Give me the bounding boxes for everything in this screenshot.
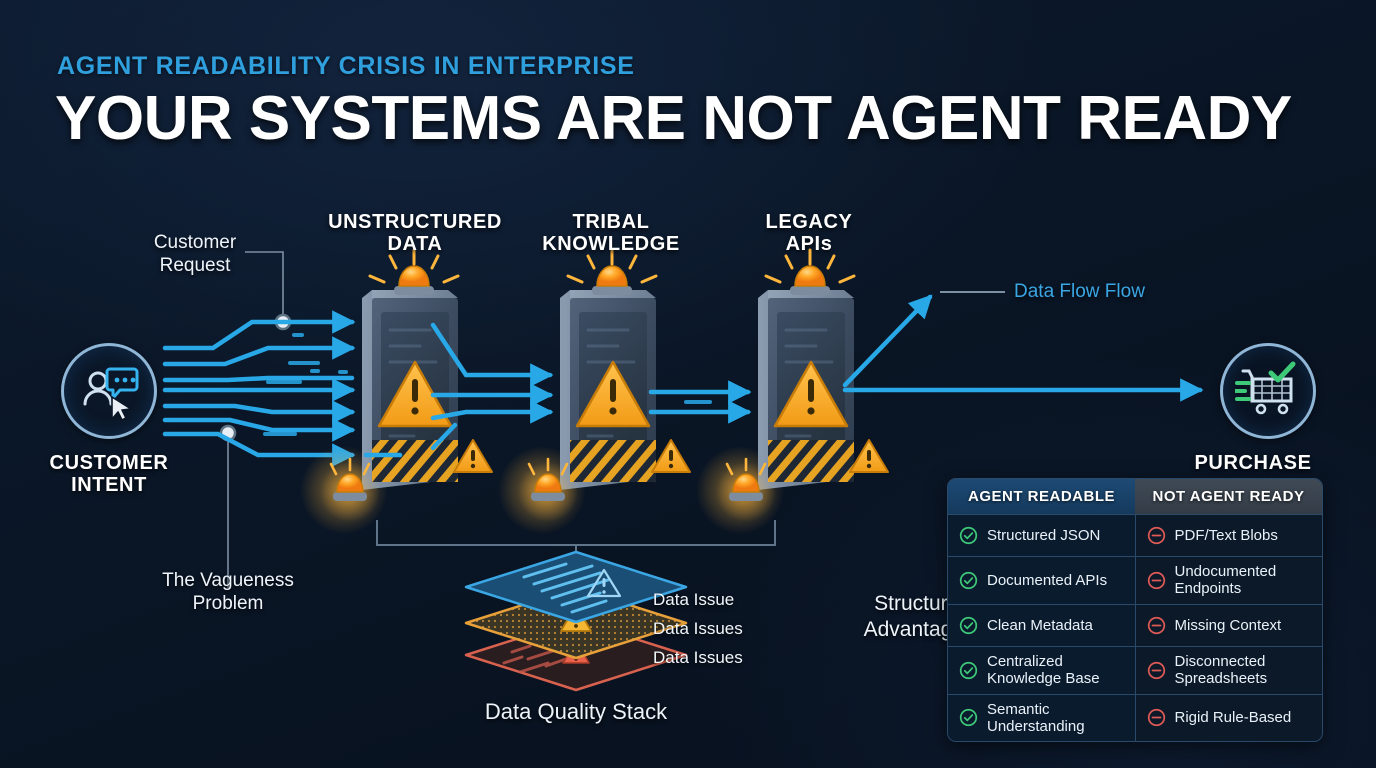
table-cell-bad-text: Missing Context: [1175, 617, 1282, 634]
table-cell-bad: Disconnected Spreadsheets: [1135, 647, 1323, 694]
table-cell-good-text: Structured JSON: [987, 527, 1100, 544]
structural-advantage-label: Structural Advantage: [812, 591, 964, 642]
table-header-row: AGENT READABLE NOT AGENT READY: [948, 479, 1322, 514]
barrier-title-legacy-apis-line2: APIs: [721, 233, 897, 255]
callout-vagueness-problem: The Vagueness Problem: [137, 569, 319, 615]
minus-circle-icon: [1147, 661, 1166, 680]
stack-layer-label-0: Data Issue: [653, 590, 734, 610]
alarm-light-icon: [568, 250, 656, 295]
check-circle-icon: [959, 571, 978, 590]
callout-customer-request-line1: Customer: [129, 231, 261, 254]
table-cell-good: Structured JSON: [948, 515, 1135, 556]
barrier-title-tribal-knowledge: TRIBAL KNOWLEDGE: [521, 211, 701, 256]
table-header-not-agent-ready: NOT AGENT READY: [1135, 479, 1322, 514]
table-cell-bad-text: PDF/Text Blobs: [1175, 527, 1278, 544]
table-cell-good: Clean Metadata: [948, 605, 1135, 646]
table-row[interactable]: Semantic Understanding Rigid Rule-Based: [948, 694, 1322, 742]
table-cell-good-text: Centralized Knowledge Base: [987, 653, 1127, 688]
callout-customer-request: Customer Request: [129, 231, 261, 277]
customer-intent-node[interactable]: [61, 343, 157, 439]
customer-intent-label-line2: INTENT: [19, 474, 199, 496]
legend-data-flow-label: Data Flow Flow: [1014, 281, 1145, 303]
minus-circle-icon: [1147, 571, 1166, 590]
table-cell-bad: Undocumented Endpoints: [1135, 557, 1323, 604]
structural-advantage-line2: Advantage: [812, 617, 964, 643]
table-header-agent-readable: AGENT READABLE: [948, 479, 1135, 514]
infographic-canvas: AGENT READABILITY CRISIS IN ENTERPRISE Y…: [0, 0, 1376, 768]
customer-intent-label: CUSTOMER INTENT: [19, 452, 199, 497]
warning-triangle-icon: [454, 440, 492, 472]
table-row[interactable]: Structured JSON PDF/Text Blobs: [948, 514, 1322, 556]
stack-layer-label-1: Data Issues: [653, 619, 743, 639]
barrier-title-tribal-knowledge-line2: KNOWLEDGE: [521, 233, 701, 255]
table-cell-bad: PDF/Text Blobs: [1135, 515, 1323, 556]
table-cell-good: Documented APIs: [948, 557, 1135, 604]
barrier-title-unstructured-data: UNSTRUCTURED DATA: [325, 211, 505, 256]
check-circle-icon: [959, 661, 978, 680]
barrier-title-legacy-apis-line1: LEGACY: [721, 211, 897, 233]
check-circle-icon: [959, 708, 978, 727]
table-row[interactable]: Centralized Knowledge Base Disconnected …: [948, 646, 1322, 694]
table-cell-bad-text: Disconnected Spreadsheets: [1175, 653, 1315, 688]
check-circle-icon: [959, 526, 978, 545]
alarm-light-icon: [766, 250, 854, 295]
flow-lines-input: [165, 322, 352, 455]
stack-layer-label-2: Data Issues: [653, 648, 743, 668]
barrier-title-unstructured-data-line2: DATA: [325, 233, 505, 255]
callout-vagueness-problem-line1: The Vagueness: [137, 569, 319, 592]
customer-intent-label-line1: CUSTOMER: [19, 452, 199, 474]
table-cell-good-text: Semantic Understanding: [987, 701, 1127, 736]
customer-intent-icon: [77, 359, 141, 423]
structural-advantage-line1: Structural: [812, 591, 964, 617]
table-cell-bad: Rigid Rule-Based: [1135, 695, 1323, 742]
alarm-light-icon: [370, 250, 458, 295]
table-cell-good-text: Clean Metadata: [987, 617, 1093, 634]
check-circle-icon: [959, 616, 978, 635]
purchase-node[interactable]: [1220, 343, 1316, 439]
barrier-title-tribal-knowledge-line1: TRIBAL: [521, 211, 701, 233]
table-cell-bad-text: Rigid Rule-Based: [1175, 709, 1292, 726]
callout-vagueness-problem-line2: Problem: [137, 592, 319, 615]
table-row[interactable]: Documented APIs Undocumented Endpoints: [948, 556, 1322, 604]
minus-circle-icon: [1147, 708, 1166, 727]
barrier-title-legacy-apis: LEGACY APIs: [721, 211, 897, 256]
warning-triangle-icon: [652, 440, 690, 472]
table-cell-good: Semantic Understanding: [948, 695, 1135, 742]
callout-customer-request-line2: Request: [129, 254, 261, 277]
table-cell-good: Centralized Knowledge Base: [948, 647, 1135, 694]
table-cell-bad: Missing Context: [1135, 605, 1323, 646]
minus-circle-icon: [1147, 616, 1166, 635]
minus-circle-icon: [1147, 526, 1166, 545]
barrier-title-unstructured-data-line1: UNSTRUCTURED: [325, 211, 505, 233]
purchase-label: PURCHASE: [1185, 452, 1321, 474]
data-quality-stack-title: Data Quality Stack: [446, 699, 706, 726]
table-cell-good-text: Documented APIs: [987, 572, 1107, 589]
shopping-cart-check-icon: [1235, 361, 1301, 421]
warning-triangle-icon: [850, 440, 888, 472]
table-row[interactable]: Clean Metadata Missing Context: [948, 604, 1322, 646]
comparison-table[interactable]: AGENT READABLE NOT AGENT READY Structure…: [947, 478, 1323, 742]
table-cell-bad-text: Undocumented Endpoints: [1175, 563, 1315, 598]
